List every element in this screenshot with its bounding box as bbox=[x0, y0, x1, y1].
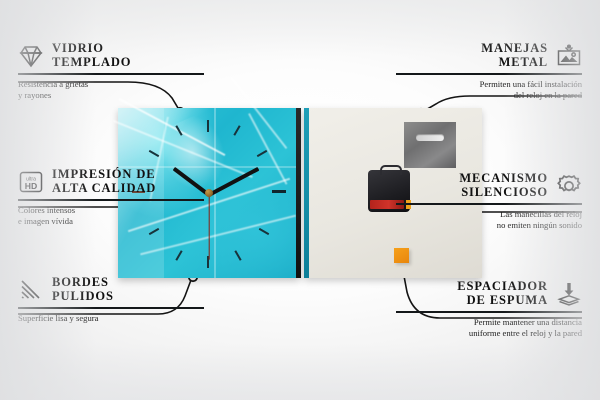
polished-edges-icon bbox=[18, 277, 44, 303]
clock-front-edge bbox=[296, 108, 301, 278]
feature-title: ESPACIADOR DE ESPUMA bbox=[457, 280, 548, 307]
gear-icon bbox=[556, 173, 582, 199]
feature-espaciador-espuma: ESPACIADOR DE ESPUMA Permite mantener un… bbox=[396, 280, 582, 339]
feature-rule bbox=[18, 307, 204, 309]
feature-rule bbox=[396, 73, 582, 75]
feature-title: BORDES PULIDOS bbox=[52, 276, 114, 303]
clock-tick bbox=[175, 250, 182, 261]
feature-rule bbox=[18, 199, 204, 201]
infographic-canvas: VIDRIO TEMPLADO Resistencia a grietas y … bbox=[0, 0, 600, 400]
feature-title: IMPRESIÓN DE ALTA CALIDAD bbox=[52, 168, 156, 195]
hanger-slot bbox=[416, 134, 444, 141]
picture-hanger-icon bbox=[556, 43, 582, 69]
feather-strand bbox=[231, 77, 288, 149]
feature-desc: Colores intensos e imagen vívida bbox=[18, 205, 204, 227]
diamond-icon bbox=[18, 43, 44, 69]
feature-desc: Resistencia a grietas y rayones bbox=[18, 79, 204, 101]
clock-tick bbox=[207, 120, 209, 132]
feature-rule bbox=[396, 311, 582, 313]
svg-text:HD: HD bbox=[25, 180, 37, 190]
clock-tick bbox=[233, 125, 240, 136]
clock-tick bbox=[257, 150, 268, 157]
feature-mecanismo-silencioso: MECANISMO SILENCIOSO Las manecillas del … bbox=[396, 172, 582, 231]
feature-desc: Las manecillas del reloj no emiten ningú… bbox=[396, 209, 582, 231]
feature-desc: Permiten una fácil instalación del reloj… bbox=[396, 79, 582, 101]
feature-rule bbox=[396, 203, 582, 205]
clock-tick bbox=[259, 228, 270, 235]
feature-title: MANEJAS METAL bbox=[481, 42, 548, 69]
feature-manejas-metal: MANEJAS METAL Permiten una fácil instala… bbox=[396, 42, 582, 101]
feature-title: MECANISMO SILENCIOSO bbox=[459, 172, 548, 199]
clock-tick bbox=[234, 250, 241, 261]
feature-bordes-pulidos: BORDES PULIDOS Superficie lisa y segura bbox=[18, 276, 204, 324]
feature-desc: Superficie lisa y segura bbox=[18, 313, 204, 324]
feature-impresion-alta-calidad: ultra HD IMPRESIÓN DE ALTA CALIDAD Color… bbox=[18, 168, 204, 227]
feature-rule bbox=[18, 73, 204, 75]
foam-spacer bbox=[394, 248, 409, 263]
clock-back-edge bbox=[304, 108, 309, 278]
foam-spacer-icon bbox=[556, 281, 582, 307]
clock-second-hand bbox=[208, 194, 209, 260]
feature-vidrio-templado: VIDRIO TEMPLADO Resistencia a grietas y … bbox=[18, 42, 204, 101]
ultra-hd-icon: ultra HD bbox=[18, 169, 44, 195]
clock-center-pin bbox=[205, 189, 213, 197]
metal-hanger-plate bbox=[404, 122, 456, 168]
feature-desc: Permite mantener una distancia uniforme … bbox=[396, 317, 582, 339]
clock-tick bbox=[272, 190, 286, 193]
feature-title: VIDRIO TEMPLADO bbox=[52, 42, 131, 69]
